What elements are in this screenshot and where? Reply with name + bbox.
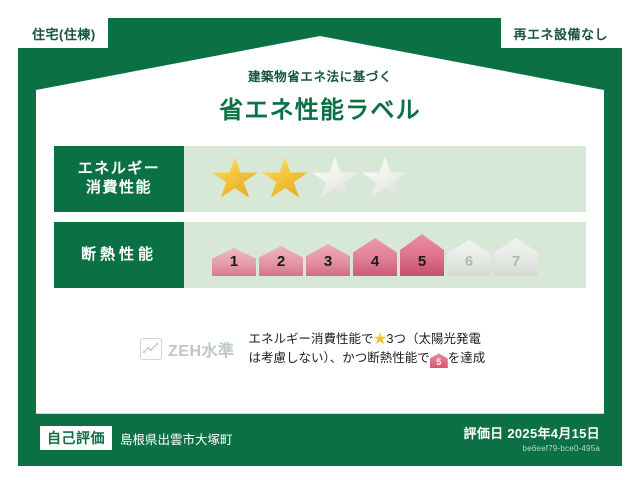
self-evaluation-badge: 自己評価 [40,426,112,450]
evaluation-date: 評価日 2025年4月15日 [464,423,600,442]
house-level-2: 2 [259,246,303,276]
energy-consumption-row: エネルギー 消費性能 [54,146,586,212]
zeh-label: ZEH水準 [168,337,235,361]
star-3 [312,157,358,201]
star-4 [362,157,408,201]
star-1 [212,157,258,201]
chart-icon [140,338,162,360]
house-level-6: 6 [447,240,491,276]
insulation-label: 断熱性能 [54,222,184,288]
zeh-description-line2: は考慮しない）、かつ断熱性能で5を達成 [249,349,486,368]
title-subtitle: 建築物省エネ法に基づく [0,66,640,85]
house-level-4: 4 [353,238,397,276]
address-text: 島根県出雲市大塚町 [120,429,233,448]
star-2 [262,157,308,201]
insulation-scale: 1 2 3 4 5 6 7 [184,222,586,288]
zeh-badge: ZEH水準 [140,337,235,361]
zeh-description-line1: エネルギー消費性能で3つ（太陽光発電 [249,330,486,349]
rating-rows: エネルギー 消費性能 断熱性能 1 2 3 4 5 6 [54,146,586,298]
zeh-text-1a: エネルギー消費性能で [249,332,374,346]
energy-label-line1: エネルギー [78,160,161,179]
zeh-description: エネルギー消費性能で3つ（太陽光発電 は考慮しない）、かつ断熱性能で5を達成 [249,330,486,369]
house-strip: 1 2 3 4 5 6 7 [212,234,538,276]
inline-star-icon [374,332,387,345]
renewable-equipment-tab: 再エネ設備なし [501,18,622,48]
house-level-1: 1 [212,248,256,276]
house-level-7: 7 [494,238,538,276]
evaluation-date-label: 評価日 [464,426,504,441]
star-rating [184,146,586,212]
footer-bar: 自己評価 島根県出雲市大塚町 評価日 2025年4月15日 be6eef79-b… [18,414,622,462]
inline-house-icon: 5 [430,353,448,368]
evaluation-info: 評価日 2025年4月15日 be6eef79-bce0-495a [464,423,600,453]
energy-consumption-label: エネルギー 消費性能 [54,146,184,212]
page-title: 省エネ性能ラベル [0,90,640,125]
insulation-row: 断熱性能 1 2 3 4 5 6 7 [54,222,586,288]
zeh-text-2b: を達成 [448,351,486,365]
energy-performance-label: 住宅(住棟) 再エネ設備なし 建築物省エネ法に基づく 省エネ性能ラベル エネルギ… [0,0,640,480]
house-level-3: 3 [306,244,350,276]
house-level-5: 5 [400,234,444,276]
zeh-note: ZEH水準 エネルギー消費性能で3つ（太陽光発電 は考慮しない）、かつ断熱性能で… [140,330,580,369]
building-type-tab: 住宅(住棟) [18,18,108,48]
energy-label-line2: 消費性能 [86,179,152,198]
zeh-text-2a: は考慮しない）、かつ断熱性能で [249,351,430,365]
title-block: 建築物省エネ法に基づく 省エネ性能ラベル [0,66,640,125]
zeh-text-1b: 3つ（太陽光発電 [387,332,481,346]
evaluation-date-value: 2025年4月15日 [507,426,600,441]
evaluation-id: be6eef79-bce0-495a [464,444,600,453]
